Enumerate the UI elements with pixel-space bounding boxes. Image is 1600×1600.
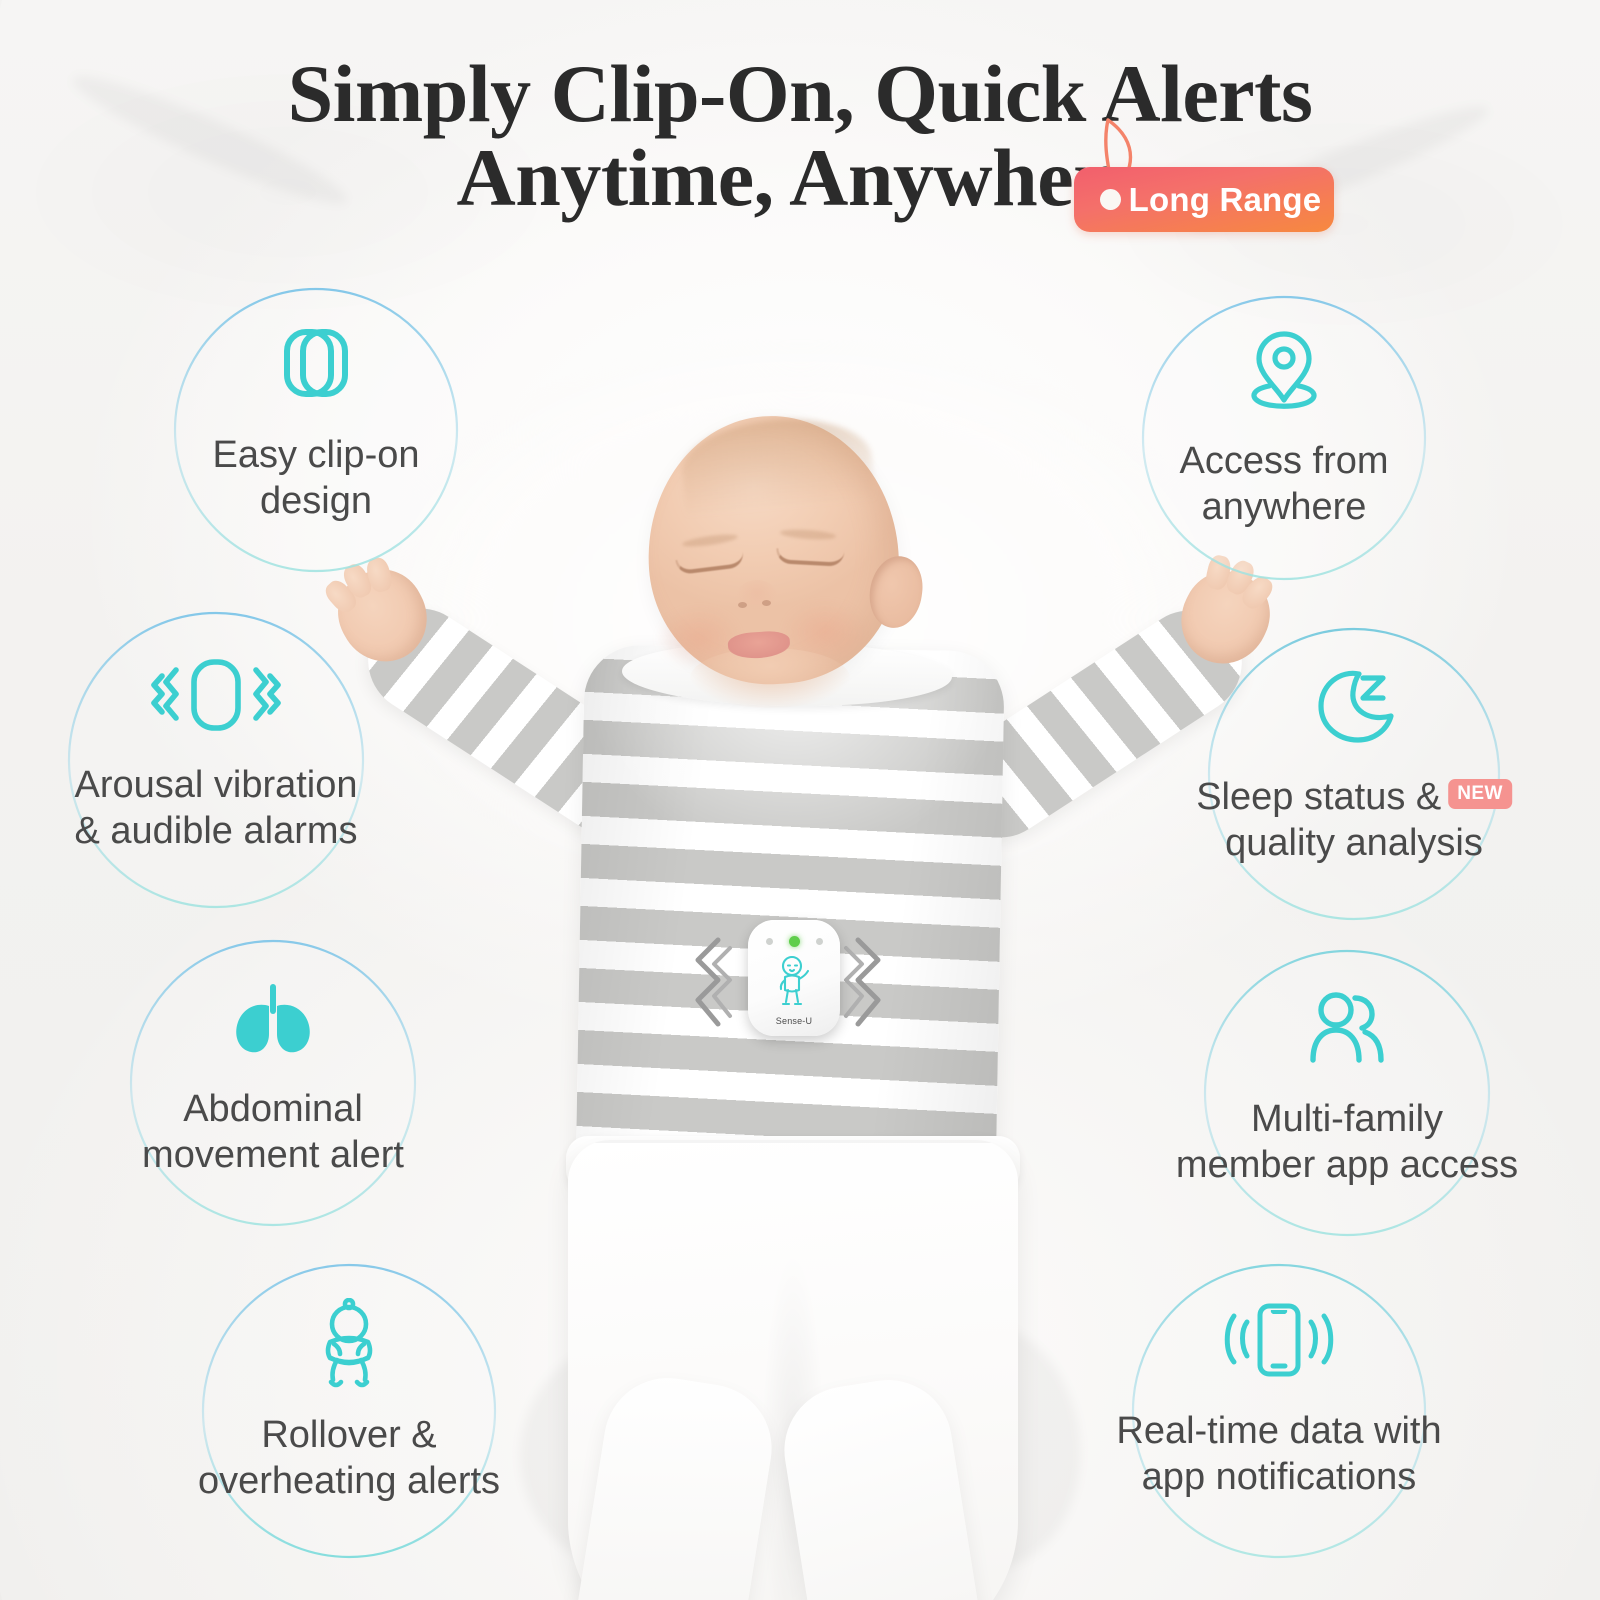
feature-label: Arousal vibration & audible alarms <box>74 762 357 855</box>
feature-label: Easy clip-on design <box>213 432 420 525</box>
feature-label-line: & audible alarms <box>74 808 357 854</box>
feature-label: Access from anywhere <box>1179 438 1388 531</box>
new-badge: NEW <box>1448 779 1512 809</box>
baby-nostril <box>738 602 747 608</box>
phone-notification-icon <box>1130 1300 1428 1380</box>
feature-label: Abdominal movement alert <box>142 1086 404 1179</box>
power-led <box>816 938 823 945</box>
location-pin-icon <box>1140 328 1428 414</box>
feature-access-anywhere[interactable]: Access from anywhere <box>1140 294 1428 582</box>
feature-label: Sleep status &NEW quality analysis <box>1196 774 1512 867</box>
feature-label: Rollover & overheating alerts <box>198 1412 500 1505</box>
feature-label-line: member app access <box>1176 1142 1518 1188</box>
feature-easy-clip-on[interactable]: Easy clip-on design <box>172 286 460 574</box>
feature-label-line: Easy clip-on <box>213 432 420 478</box>
feature-label-line: Abdominal <box>142 1086 404 1132</box>
baby-chin <box>690 648 850 708</box>
device-led-row <box>748 936 840 947</box>
feature-label: Multi-family member app access <box>1176 1096 1518 1189</box>
vibration-zigzag-left <box>688 936 734 1028</box>
vibration-zigzag-right <box>842 936 888 1028</box>
feature-label-line: Access from <box>1179 438 1388 484</box>
feature-ring <box>66 610 366 910</box>
feature-sleep-status[interactable]: Sleep status &NEW quality analysis <box>1206 626 1502 922</box>
feature-multi-family[interactable]: Multi-family member app access <box>1202 948 1492 1238</box>
sense-u-device[interactable]: Sense-U <box>748 920 840 1036</box>
feature-arousal-vibration[interactable]: Arousal vibration & audible alarms <box>66 610 366 910</box>
long-range-tag: Long Range <box>1062 112 1362 242</box>
tag-label: Long Range <box>1074 167 1334 232</box>
feature-label-line: design <box>213 478 420 524</box>
clip-on-device-icon <box>172 322 460 406</box>
feature-label-line: movement alert <box>142 1132 404 1178</box>
feature-label-line: Arousal vibration <box>74 762 357 808</box>
baby-logo-icon <box>771 954 817 1010</box>
feature-label-line: app notifications <box>1116 1454 1441 1500</box>
feature-label-line: Real-time data with <box>1116 1408 1441 1454</box>
feature-rollover-overheating[interactable]: Rollover & overheating alerts <box>200 1262 498 1560</box>
feature-label-line: Sleep status &NEW <box>1196 774 1512 820</box>
feature-realtime-notifications[interactable]: Real-time data with app notifications <box>1130 1262 1428 1560</box>
two-people-icon <box>1202 990 1492 1064</box>
baby-rollover-icon <box>200 1298 498 1394</box>
tag-body: Long Range <box>1074 167 1334 232</box>
moon-sleep-icon <box>1206 666 1502 746</box>
device-brand-label: Sense-U <box>748 1016 840 1026</box>
infographic-canvas: Sense-U Simply Clip-On, Quick Alerts Any… <box>0 0 1600 1600</box>
baby-nostril <box>762 600 771 606</box>
feature-label-line: anywhere <box>1179 484 1388 530</box>
feature-label-line: overheating alerts <box>198 1458 500 1504</box>
vibrating-device-icon <box>66 656 366 734</box>
feature-abdominal-movement[interactable]: Abdominal movement alert <box>128 938 418 1228</box>
headline-line-2: Anytime, Anywhere <box>457 136 1144 220</box>
feature-label-line: Multi-family <box>1176 1096 1518 1142</box>
status-led-on <box>789 936 800 947</box>
battery-led <box>766 938 773 945</box>
lungs-icon <box>128 982 418 1056</box>
feature-label-line: Rollover & <box>198 1412 500 1458</box>
feature-label: Real-time data with app notifications <box>1116 1408 1441 1501</box>
feature-label-line: quality analysis <box>1196 820 1512 866</box>
feature-label-text: Sleep status & <box>1196 776 1441 818</box>
